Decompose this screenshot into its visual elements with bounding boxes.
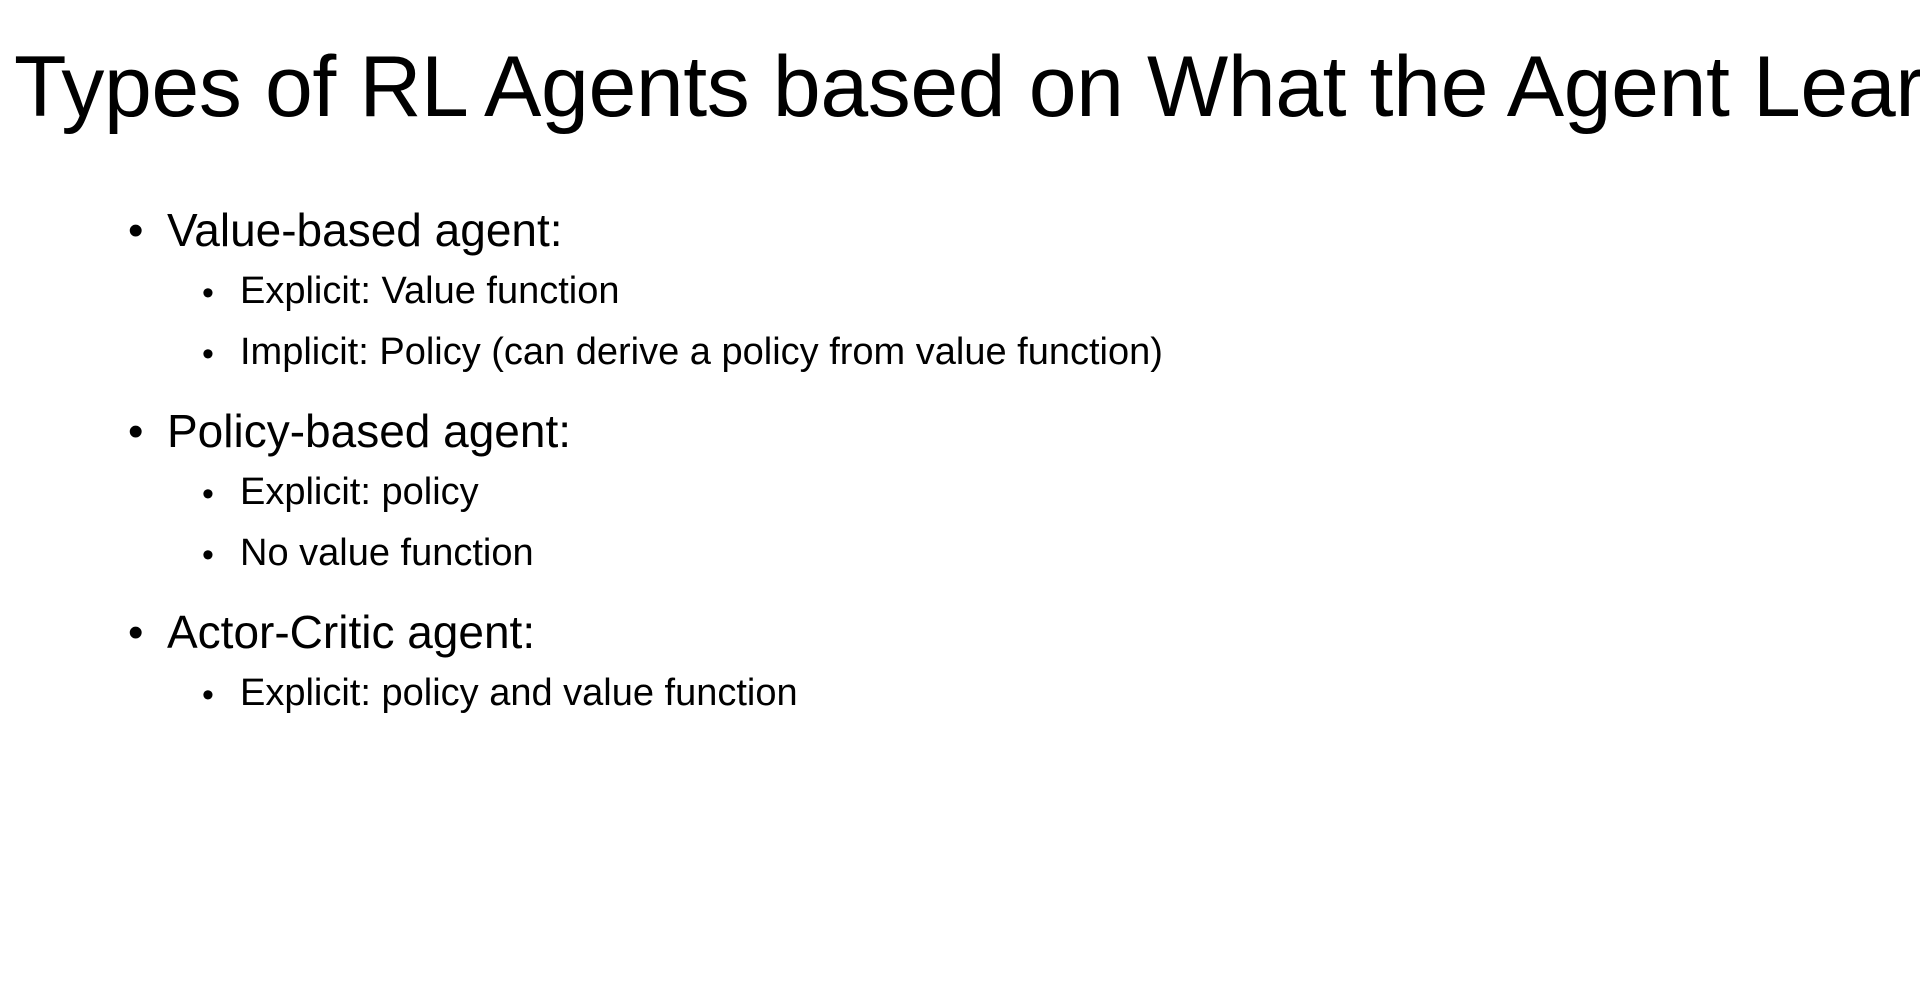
bullet-group-value-based: • Value-based agent: • Explicit: Value f… <box>0 196 1920 387</box>
bullet-item-policy-no-value-function: • No value function <box>0 527 1920 588</box>
bullet-item-actor-critic-agent: • Actor-Critic agent: <box>0 598 1920 667</box>
bullet-point-icon: • <box>202 669 214 721</box>
page-title: Types of RL Agents based on What the Age… <box>14 42 1914 133</box>
bullet-point-icon: • <box>202 529 214 581</box>
bullet-label: Explicit: Value function <box>240 265 620 317</box>
bullet-label: Actor-Critic agent: <box>167 606 535 659</box>
bullet-item-policy-based-agent: • Policy-based agent: <box>0 397 1920 466</box>
bullet-label: Explicit: policy <box>240 466 479 518</box>
bullet-item-value-implicit: • Implicit: Policy (can derive a policy … <box>0 326 1920 387</box>
bullet-group-actor-critic: • Actor-Critic agent: • Explicit: policy… <box>0 598 1920 728</box>
bullet-item-policy-explicit: • Explicit: policy <box>0 466 1920 527</box>
bullet-label: Value-based agent: <box>167 204 563 257</box>
bullet-point-icon: • <box>202 328 214 380</box>
bullet-group-policy-based: • Policy-based agent: • Explicit: policy… <box>0 397 1920 588</box>
bullet-label: Explicit: policy and value function <box>240 667 798 719</box>
bullet-point-icon: • <box>128 204 143 257</box>
bullet-point-icon: • <box>202 468 214 520</box>
bullet-label: No value function <box>240 527 534 579</box>
bullet-item-value-explicit: • Explicit: Value function <box>0 265 1920 326</box>
bullet-point-icon: • <box>128 606 143 659</box>
bullet-point-icon: • <box>128 405 143 458</box>
slide: Types of RL Agents based on What the Age… <box>0 0 1920 990</box>
bullet-label: Implicit: Policy (can derive a policy fr… <box>240 326 1163 378</box>
bullet-point-icon: • <box>202 267 214 319</box>
bullet-item-actor-critic-explicit: • Explicit: policy and value function <box>0 667 1920 728</box>
bullet-list: • Value-based agent: • Explicit: Value f… <box>0 196 1920 728</box>
bullet-label: Policy-based agent: <box>167 405 571 458</box>
bullet-item-value-based-agent: • Value-based agent: <box>0 196 1920 265</box>
